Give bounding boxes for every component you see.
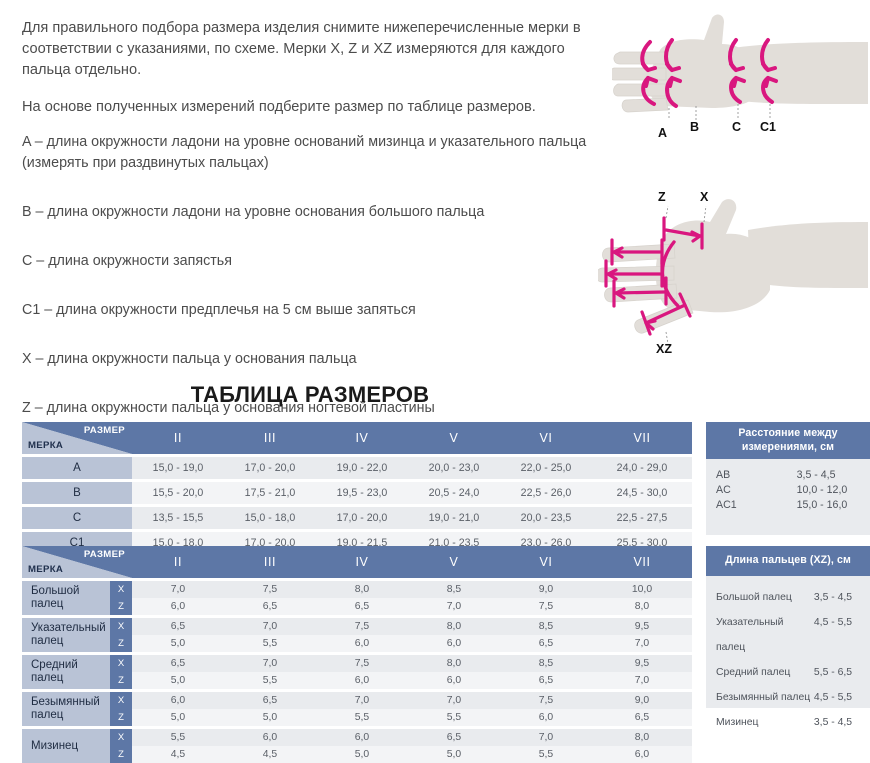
length-value-ring: 4,5 - 5,5 — [814, 685, 860, 710]
definition-c1: C1 – длина окружности предплечья на 5 см… — [22, 300, 607, 321]
panel-finger-lengths-body: Большой палец 3,5 - 4,5 Указательный пал… — [706, 576, 870, 735]
table-row: Z 4,5 4,5 5,0 5,0 5,5 6,0 — [22, 746, 692, 763]
row-label-middle: Средний палец — [22, 655, 110, 689]
cell-thumb-x-vii: 10,0 — [592, 581, 692, 598]
cell-thumb-x-iv: 8,0 — [316, 581, 408, 598]
cell-little-x-iv: 6,0 — [316, 729, 408, 746]
cell-middle-z-vi: 6,5 — [500, 672, 592, 689]
cell-ring-x-iv: 7,0 — [316, 692, 408, 709]
cell-b-iii: 17,5 - 21,0 — [224, 482, 316, 504]
length-value-index: 4,5 - 5,5 — [814, 610, 860, 660]
list-item: AC1 15,0 - 16,0 — [716, 498, 860, 513]
list-item: AC 10,0 - 12,0 — [716, 483, 860, 498]
header-size-iii: III — [224, 422, 316, 454]
badge-z-index: Z — [110, 635, 132, 652]
badge-x-ring: X — [110, 692, 132, 709]
hand-fingers-svg — [598, 182, 870, 362]
label-a: A — [658, 126, 667, 140]
table-row: Z 6,0 6,5 6,5 7,0 7,5 8,0 — [22, 598, 692, 615]
table-row: Мизинец X 5,5 6,0 6,0 6,5 7,0 8,0 — [22, 729, 692, 746]
cell-b-v: 20,5 - 24,0 — [408, 482, 500, 504]
cell-little-z-vii: 6,0 — [592, 746, 692, 763]
definition-c: C – длина окружности запястья — [22, 251, 607, 272]
badge-z-ring: Z — [110, 709, 132, 726]
page-title: ТАБЛИЦА РАЗМЕРОВ — [0, 382, 620, 408]
list-item: Мизинец 3,5 - 4,5 — [716, 710, 860, 735]
header-size-vii: VII — [592, 422, 692, 454]
cell-little-z-iv: 5,0 — [316, 746, 408, 763]
cell-little-z-iii: 4,5 — [224, 746, 316, 763]
cell-thumb-x-v: 8,5 — [408, 581, 500, 598]
size-table-main: МЕРКА РАЗМЕР II III IV V VI VII A 15,0 -… — [22, 422, 692, 554]
header-corner-row-label: МЕРКА — [28, 440, 63, 451]
header-size-iv: IV — [316, 546, 408, 578]
cell-index-x-ii: 6,5 — [132, 618, 224, 635]
hand-palm-svg — [612, 8, 870, 158]
cell-c-vii: 22,5 - 27,5 — [592, 507, 692, 529]
cell-ring-z-vi: 6,0 — [500, 709, 592, 726]
cell-ring-z-iii: 5,0 — [224, 709, 316, 726]
cell-c-v: 19,0 - 21,0 — [408, 507, 500, 529]
header-size-vi: VI — [500, 422, 592, 454]
header-size-vii: VII — [592, 546, 692, 578]
cell-index-z-vi: 6,5 — [500, 635, 592, 652]
cell-little-x-ii: 5,5 — [132, 729, 224, 746]
hand-diagram-fingers: Z X XZ — [598, 182, 870, 362]
cell-ring-x-iii: 6,5 — [224, 692, 316, 709]
header-size-iv: IV — [316, 422, 408, 454]
table-row: Безымянный палец X 6,0 6,5 7,0 7,0 7,5 9… — [22, 692, 692, 709]
size-guide-page: Для правильного подбора размера изделия … — [0, 0, 870, 752]
definition-a: A – длина окружности ладони на уровне ос… — [22, 132, 607, 174]
cell-index-x-v: 8,0 — [408, 618, 500, 635]
cell-middle-z-ii: 5,0 — [132, 672, 224, 689]
cell-little-x-vii: 8,0 — [592, 729, 692, 746]
table-row: Z 5,0 5,5 6,0 6,0 6,5 7,0 — [22, 635, 692, 652]
badge-z-little: Z — [110, 746, 132, 763]
label-z: Z — [658, 190, 666, 204]
header-size-iii: III — [224, 546, 316, 578]
hand-diagram-circumference: A B C C1 — [612, 8, 870, 158]
cell-thumb-x-ii: 7,0 — [132, 581, 224, 598]
size-table-fingers-grid: МЕРКА РАЗМЕР II III IV V VI VII Большой … — [22, 546, 692, 763]
cell-index-x-vii: 9,5 — [592, 618, 692, 635]
table-header-row: МЕРКА РАЗМЕР II III IV V VI VII — [22, 546, 692, 578]
distance-value-ac1: 15,0 - 16,0 — [797, 498, 860, 513]
cell-middle-x-vii: 9,5 — [592, 655, 692, 672]
cell-middle-x-iv: 7,5 — [316, 655, 408, 672]
cell-ring-z-ii: 5,0 — [132, 709, 224, 726]
panel-distances-title: Расстояние между измерениями, см — [706, 422, 870, 459]
distance-value-ac: 10,0 - 12,0 — [797, 483, 860, 498]
badge-x-little: X — [110, 729, 132, 746]
length-key-middle: Средний палец — [716, 660, 814, 685]
length-key-thumb: Большой палец — [716, 585, 814, 610]
cell-ring-x-v: 7,0 — [408, 692, 500, 709]
label-c1: C1 — [760, 120, 776, 134]
header-size-vi: VI — [500, 546, 592, 578]
cell-b-ii: 15,5 - 20,0 — [132, 482, 224, 504]
length-value-middle: 5,5 - 6,5 — [814, 660, 860, 685]
size-table-main-grid: МЕРКА РАЗМЕР II III IV V VI VII A 15,0 -… — [22, 422, 692, 554]
cell-ring-x-vi: 7,5 — [500, 692, 592, 709]
panel-distances: Расстояние между измерениями, см AB 3,5 … — [706, 422, 870, 535]
cell-c-iii: 15,0 - 18,0 — [224, 507, 316, 529]
label-xz: XZ — [656, 342, 672, 356]
row-label-c: C — [22, 507, 132, 529]
cell-c-iv: 17,0 - 20,0 — [316, 507, 408, 529]
label-x: X — [700, 190, 708, 204]
table-row: Средний палец X 6,5 7,0 7,5 8,0 8,5 9,5 — [22, 655, 692, 672]
table-header-row: МЕРКА РАЗМЕР II III IV V VI VII — [22, 422, 692, 454]
header-corner-cell: МЕРКА РАЗМЕР — [22, 546, 132, 578]
table-row: Большой палец X 7,0 7,5 8,0 8,5 9,0 10,0 — [22, 581, 692, 598]
cell-little-x-iii: 6,0 — [224, 729, 316, 746]
cell-thumb-x-iii: 7,5 — [224, 581, 316, 598]
intro-block: Для правильного подбора размера изделия … — [22, 18, 600, 134]
intro-paragraph-2: На основе полученных измерений подберите… — [22, 97, 600, 118]
cell-middle-z-iii: 5,5 — [224, 672, 316, 689]
badge-x-thumb: X — [110, 581, 132, 598]
list-item: Средний палец 5,5 - 6,5 — [716, 660, 860, 685]
header-corner-cell: МЕРКА РАЗМЕР — [22, 422, 132, 454]
cell-a-ii: 15,0 - 19,0 — [132, 457, 224, 479]
header-size-v: V — [408, 546, 500, 578]
hand-shape — [598, 199, 868, 333]
badge-z-middle: Z — [110, 672, 132, 689]
cell-a-iii: 17,0 - 20,0 — [224, 457, 316, 479]
cell-middle-z-vii: 7,0 — [592, 672, 692, 689]
distance-key-ab: AB — [716, 468, 797, 483]
cell-thumb-z-vii: 8,0 — [592, 598, 692, 615]
length-key-ring: Безымянный палец — [716, 685, 814, 710]
table-row: Z 5,0 5,5 6,0 6,0 6,5 7,0 — [22, 672, 692, 689]
table-row: Z 5,0 5,0 5,5 5,5 6,0 6,5 — [22, 709, 692, 726]
cell-index-x-iv: 7,5 — [316, 618, 408, 635]
cell-ring-z-vii: 6,5 — [592, 709, 692, 726]
table-row: B 15,5 - 20,0 17,5 - 21,0 19,5 - 23,0 20… — [22, 482, 692, 504]
cell-little-z-v: 5,0 — [408, 746, 500, 763]
badge-x-middle: X — [110, 655, 132, 672]
list-item: Безымянный палец 4,5 - 5,5 — [716, 685, 860, 710]
panel-finger-lengths-title: Длина пальцев (XZ), см — [706, 546, 870, 576]
cell-c-vi: 20,0 - 23,5 — [500, 507, 592, 529]
row-label-a: A — [22, 457, 132, 479]
cell-little-z-ii: 4,5 — [132, 746, 224, 763]
cell-ring-z-v: 5,5 — [408, 709, 500, 726]
panel-distances-body: AB 3,5 - 4,5 AC 10,0 - 12,0 AC1 15,0 - 1… — [706, 459, 870, 513]
label-c: C — [732, 120, 741, 134]
cell-b-vi: 22,5 - 26,0 — [500, 482, 592, 504]
hand-shape — [612, 15, 868, 112]
cell-index-z-ii: 5,0 — [132, 635, 224, 652]
cell-middle-x-v: 8,0 — [408, 655, 500, 672]
row-label-b: B — [22, 482, 132, 504]
header-corner-col-label: РАЗМЕР — [84, 549, 125, 560]
list-item: Указательный палец 4,5 - 5,5 — [716, 610, 860, 660]
panel-finger-lengths: Длина пальцев (XZ), см Большой палец 3,5… — [706, 546, 870, 708]
cell-middle-x-vi: 8,5 — [500, 655, 592, 672]
cell-index-x-iii: 7,0 — [224, 618, 316, 635]
cell-little-x-v: 6,5 — [408, 729, 500, 746]
definition-b: B – длина окружности ладони на уровне ос… — [22, 202, 607, 223]
cell-middle-z-iv: 6,0 — [316, 672, 408, 689]
cell-thumb-z-vi: 7,5 — [500, 598, 592, 615]
cell-ring-z-iv: 5,5 — [316, 709, 408, 726]
size-table-fingers: МЕРКА РАЗМЕР II III IV V VI VII Большой … — [22, 546, 692, 763]
header-size-v: V — [408, 422, 500, 454]
length-key-index: Указательный палец — [716, 610, 814, 660]
cell-a-vii: 24,0 - 29,0 — [592, 457, 692, 479]
list-item: AB 3,5 - 4,5 — [716, 468, 860, 483]
cell-index-z-iii: 5,5 — [224, 635, 316, 652]
badge-x-index: X — [110, 618, 132, 635]
table-row: C 13,5 - 15,5 15,0 - 18,0 17,0 - 20,0 19… — [22, 507, 692, 529]
table-row: Указательный палец X 6,5 7,0 7,5 8,0 8,5… — [22, 618, 692, 635]
cell-middle-z-v: 6,0 — [408, 672, 500, 689]
cell-a-iv: 19,0 - 22,0 — [316, 457, 408, 479]
cell-little-x-vi: 7,0 — [500, 729, 592, 746]
row-label-thumb: Большой палец — [22, 581, 110, 615]
cell-thumb-z-ii: 6,0 — [132, 598, 224, 615]
length-value-little: 3,5 - 4,5 — [814, 710, 860, 735]
cell-a-vi: 22,0 - 25,0 — [500, 457, 592, 479]
header-corner-col-label: РАЗМЕР — [84, 425, 125, 436]
cell-a-v: 20,0 - 23,0 — [408, 457, 500, 479]
cell-little-z-vi: 5,5 — [500, 746, 592, 763]
cell-middle-x-ii: 6,5 — [132, 655, 224, 672]
distance-key-ac1: AC1 — [716, 498, 797, 513]
distance-value-ab: 3,5 - 4,5 — [797, 468, 860, 483]
row-label-ring: Безымянный палец — [22, 692, 110, 726]
cell-thumb-z-v: 7,0 — [408, 598, 500, 615]
cell-b-iv: 19,5 - 23,0 — [316, 482, 408, 504]
length-key-little: Мизинец — [716, 710, 814, 735]
cell-index-x-vi: 8,5 — [500, 618, 592, 635]
row-label-little: Мизинец — [22, 729, 110, 763]
cell-thumb-x-vi: 9,0 — [500, 581, 592, 598]
label-b: B — [690, 120, 699, 134]
cell-index-z-v: 6,0 — [408, 635, 500, 652]
cell-index-z-iv: 6,0 — [316, 635, 408, 652]
intro-paragraph-1: Для правильного подбора размера изделия … — [22, 18, 600, 81]
cell-c-ii: 13,5 - 15,5 — [132, 507, 224, 529]
cell-index-z-vii: 7,0 — [592, 635, 692, 652]
cell-thumb-z-iii: 6,5 — [224, 598, 316, 615]
header-size-ii: II — [132, 422, 224, 454]
header-corner-row-label: МЕРКА — [28, 564, 63, 575]
cell-b-vii: 24,5 - 30,0 — [592, 482, 692, 504]
header-size-ii: II — [132, 546, 224, 578]
definition-x: X – длина окружности пальца у основания … — [22, 349, 607, 370]
row-label-index: Указательный палец — [22, 618, 110, 652]
distance-key-ac: AC — [716, 483, 797, 498]
table-row: A 15,0 - 19,0 17,0 - 20,0 19,0 - 22,0 20… — [22, 457, 692, 479]
cell-middle-x-iii: 7,0 — [224, 655, 316, 672]
cell-ring-x-ii: 6,0 — [132, 692, 224, 709]
cell-ring-x-vii: 9,0 — [592, 692, 692, 709]
cell-thumb-z-iv: 6,5 — [316, 598, 408, 615]
length-value-thumb: 3,5 - 4,5 — [814, 585, 860, 610]
badge-z-thumb: Z — [110, 598, 132, 615]
list-item: Большой палец 3,5 - 4,5 — [716, 585, 860, 610]
